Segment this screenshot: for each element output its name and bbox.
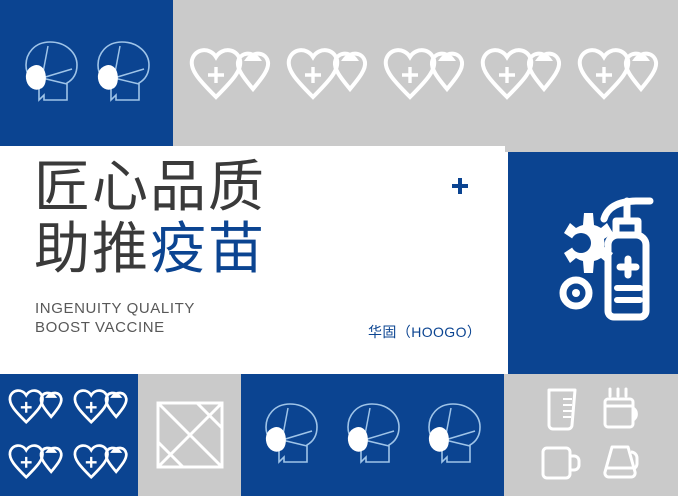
hand-sanitizer-bottle-icon: [604, 201, 650, 317]
brand-name: 华固（HOOGO）: [368, 322, 481, 342]
double-heart-plus-icon: [71, 440, 133, 486]
headline-line-2-accent: 疫苗: [150, 217, 266, 282]
double-heart-plus-icon: [6, 440, 68, 486]
double-heart-plus-icon: [574, 43, 666, 109]
top-heart-icon-row: [173, 0, 678, 152]
vessel-icon-grid: [504, 374, 678, 496]
teapot-icon: [598, 440, 646, 484]
sanitizer-blue-panel: [508, 152, 678, 375]
headline-line-2: 助推疫苗: [34, 222, 454, 278]
measuring-cup-icon: [541, 385, 581, 433]
steaming-mug-icon: [598, 385, 646, 433]
double-heart-plus-icon: [283, 43, 375, 109]
broken-image-placeholder-icon: [155, 400, 225, 470]
subtitle-line-1: INGENUITY QUALITY: [35, 299, 195, 318]
placeholder-gray-panel: [138, 374, 241, 496]
bottom-mask-icon-row: [241, 374, 504, 496]
masked-head-icon: [342, 398, 404, 472]
germ-dot-icon: [563, 280, 589, 306]
poster-canvas: 匠心品质 助推疫苗 INGENUITY QUALITY BOOST VACCIN…: [0, 0, 678, 496]
masked-head-icon: [260, 398, 322, 472]
sanitizer-icon-group: [524, 189, 662, 339]
mug-icon: [538, 440, 584, 484]
subtitle-block: INGENUITY QUALITY BOOST VACCINE: [35, 299, 195, 337]
double-heart-plus-icon: [380, 43, 472, 109]
double-heart-plus-icon: [477, 43, 569, 109]
bottom-heart-icon-grid: [0, 374, 138, 496]
masked-head-icon: [20, 36, 82, 110]
headline-line-2-dark: 助推: [34, 217, 150, 282]
headline-line-1: 匠心品质: [34, 160, 454, 216]
top-mask-icon-row: [0, 0, 173, 146]
headline-block: 匠心品质 助推疫苗: [34, 160, 454, 278]
masked-head-icon: [92, 36, 154, 110]
double-heart-plus-icon: [6, 385, 68, 431]
double-heart-plus-icon: [186, 43, 278, 109]
double-heart-plus-icon: [71, 385, 133, 431]
plus-icon: [450, 176, 470, 196]
subtitle-line-2: BOOST VACCINE: [35, 318, 195, 337]
masked-head-icon: [423, 398, 485, 472]
